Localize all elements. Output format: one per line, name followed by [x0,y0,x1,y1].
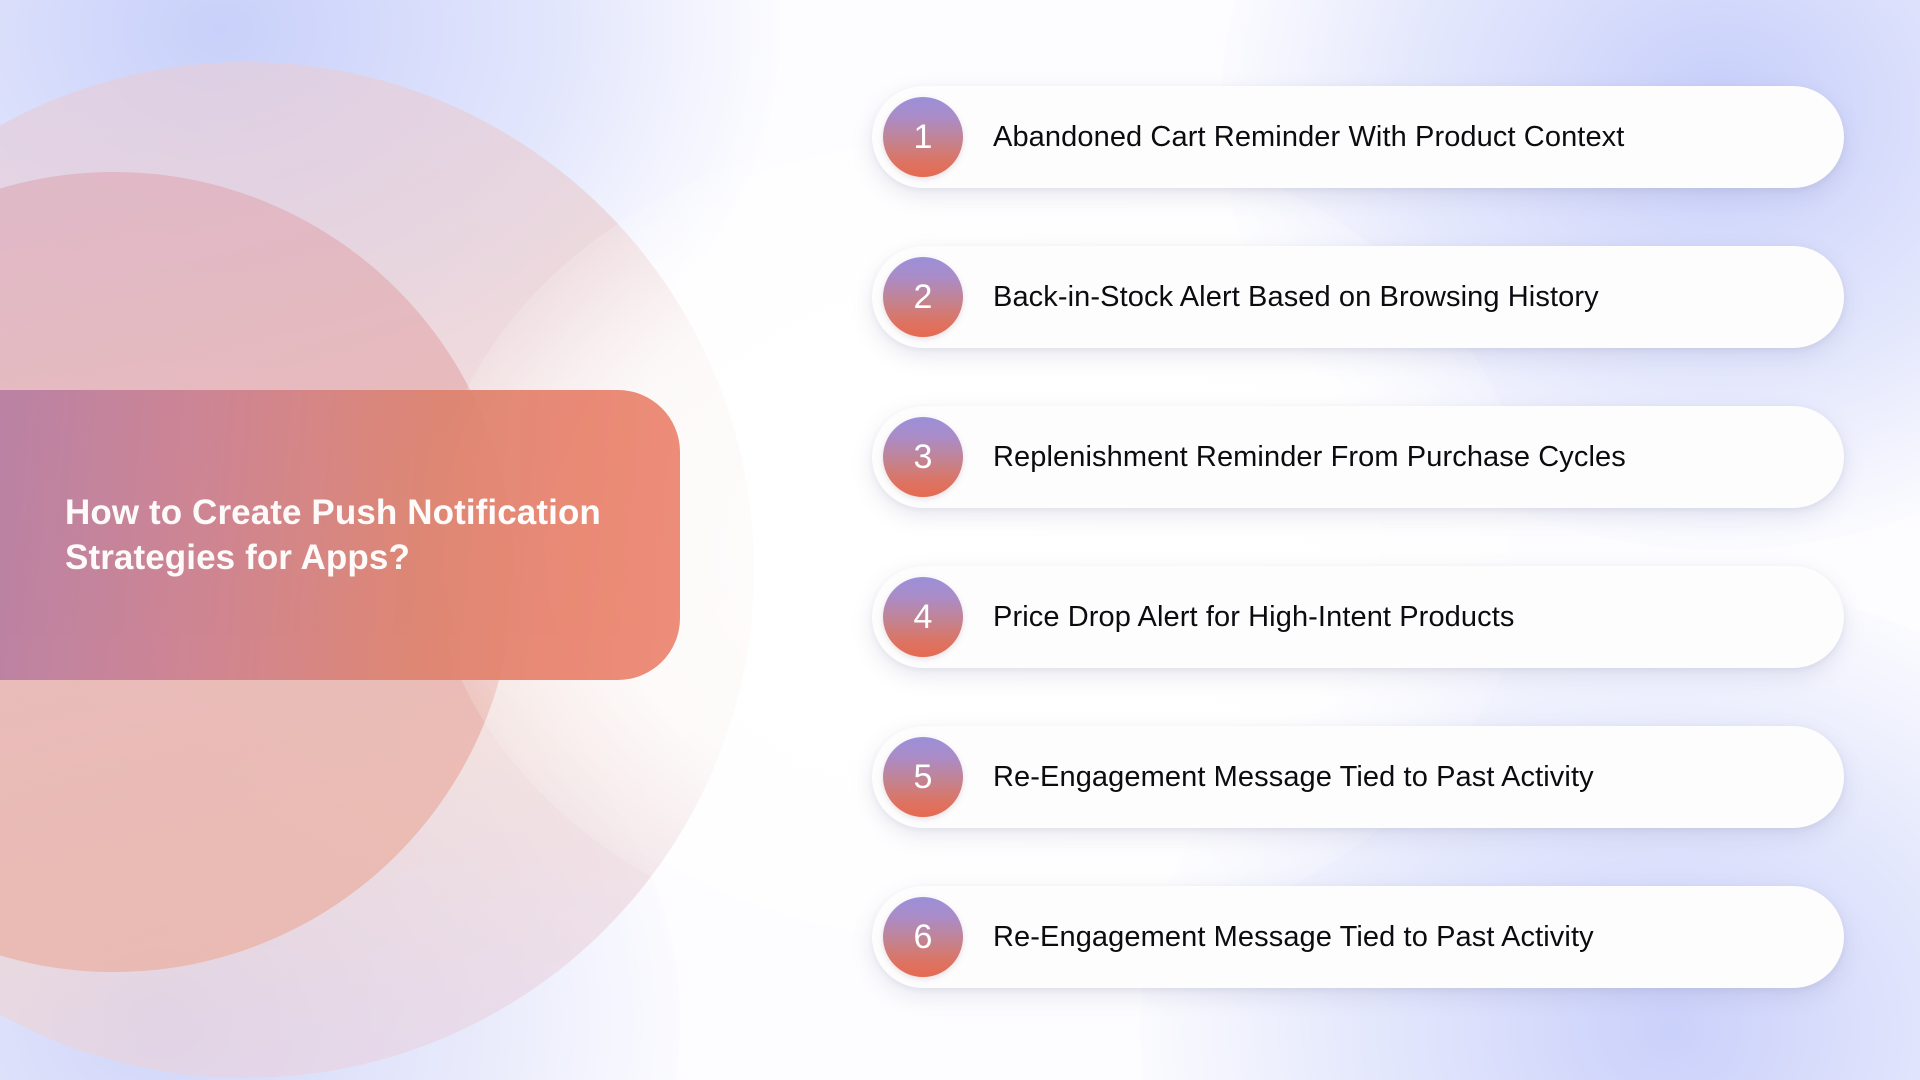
infographic-canvas: How to Create Push Notification Strategi… [0,0,1920,1080]
list-item-label: Re-Engagement Message Tied to Past Activ… [993,921,1594,954]
list-item-number-badge: 5 [883,737,963,817]
list-item[interactable]: 6 Re-Engagement Message Tied to Past Act… [872,886,1844,988]
list-item-number-badge: 2 [883,257,963,337]
list-item-number: 6 [914,920,933,954]
list-item-label: Abandoned Cart Reminder With Product Con… [993,121,1624,154]
page-title: How to Create Push Notification Strategi… [65,490,601,581]
list-item-number: 4 [914,600,933,634]
list-item-label: Replenishment Reminder From Purchase Cyc… [993,441,1626,474]
title-banner: How to Create Push Notification Strategi… [0,390,680,680]
list-item[interactable]: 3 Replenishment Reminder From Purchase C… [872,406,1844,508]
list-item-label: Re-Engagement Message Tied to Past Activ… [993,761,1594,794]
list-item-number: 2 [914,280,933,314]
list-item-number-badge: 4 [883,577,963,657]
list-item-label: Back-in-Stock Alert Based on Browsing Hi… [993,281,1599,314]
list-item[interactable]: 2 Back-in-Stock Alert Based on Browsing … [872,246,1844,348]
list-item[interactable]: 1 Abandoned Cart Reminder With Product C… [872,86,1844,188]
list-item-number: 1 [914,120,933,154]
list-item-label: Price Drop Alert for High-Intent Product… [993,601,1514,634]
list-item-number-badge: 6 [883,897,963,977]
list-item-number: 5 [914,760,933,794]
list-item-number-badge: 1 [883,97,963,177]
list-item[interactable]: 5 Re-Engagement Message Tied to Past Act… [872,726,1844,828]
list-item[interactable]: 4 Price Drop Alert for High-Intent Produ… [872,566,1844,668]
list-item-number: 3 [914,440,933,474]
list-item-number-badge: 3 [883,417,963,497]
strategy-list: 1 Abandoned Cart Reminder With Product C… [872,86,1844,988]
